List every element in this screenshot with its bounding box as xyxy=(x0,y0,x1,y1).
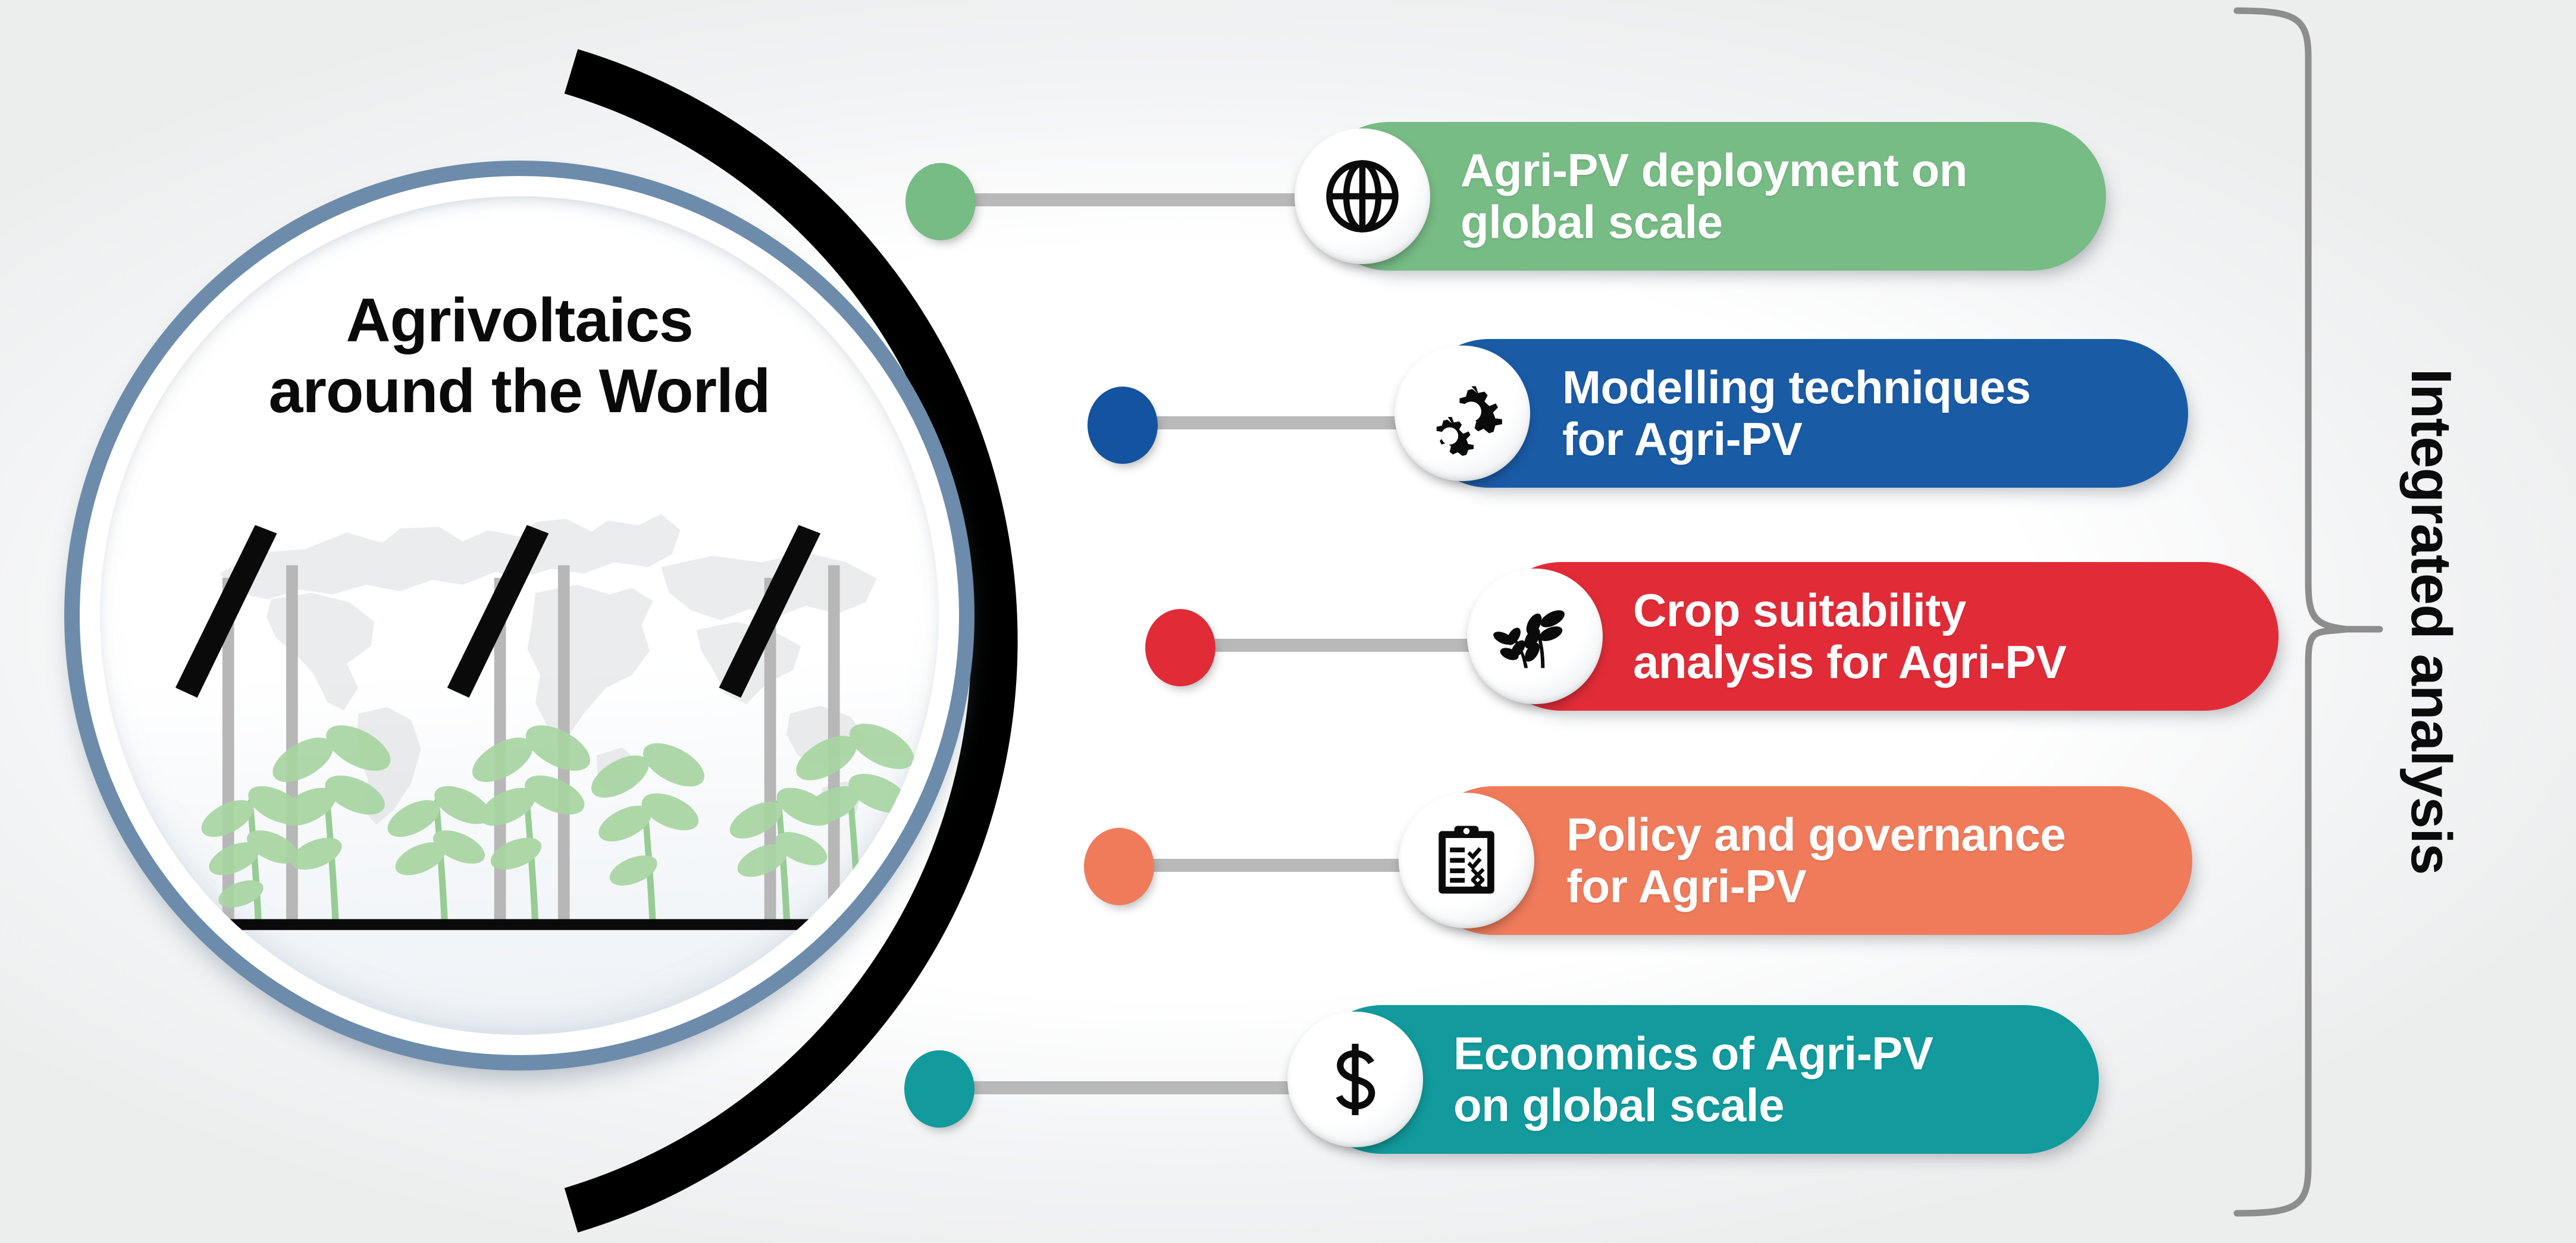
connector-line-crop xyxy=(1190,639,1505,652)
arc-node-policy[interactable] xyxy=(1084,828,1154,905)
branch-pill-economics[interactable]: Economics of Agri-PV on global scale xyxy=(1308,1005,2099,1154)
arc-node-modelling[interactable] xyxy=(1088,387,1158,464)
branch-label-policy: Policy and governance for Agri-PV xyxy=(1566,809,2066,913)
ground-line xyxy=(165,919,875,930)
branch-pill-policy[interactable]: Policy and governance for Agri-PV xyxy=(1419,786,2192,935)
branch-label-modelling: Modelling techniques for Agri-PV xyxy=(1562,362,2030,466)
clipboard-checklist-icon xyxy=(1423,817,1510,904)
branch-pill-modelling[interactable]: Modelling techniques for Agri-PV xyxy=(1415,339,2188,488)
globe-icon xyxy=(1318,152,1407,241)
branch-pill-crop[interactable]: Crop suitability analysis for Agri-PV xyxy=(1487,562,2279,711)
branch-pill-deployment[interactable]: Agri-PV deployment on global scale xyxy=(1315,122,2106,271)
plant-sprig-icon xyxy=(1491,592,1579,680)
infographic-canvas: Agrivoltaics around the World A xyxy=(0,0,2576,1243)
branch-badge-crop xyxy=(1467,569,1603,704)
arc-node-crop[interactable] xyxy=(1145,609,1215,686)
branch-badge-modelling xyxy=(1394,346,1530,481)
arc-node-economics[interactable] xyxy=(904,1050,974,1128)
branch-badge-deployment xyxy=(1295,128,1430,264)
arc-node-deployment[interactable] xyxy=(905,163,976,240)
branch-label-deployment: Agri-PV deployment on global scale xyxy=(1461,145,1967,249)
center-circle: Agrivoltaics around the World xyxy=(64,161,974,1071)
gears-icon xyxy=(1417,368,1508,459)
circle-ring: Agrivoltaics around the World xyxy=(64,161,974,1071)
branch-badge-policy xyxy=(1399,793,1534,928)
circle-inner: Agrivoltaics around the World xyxy=(100,196,939,1035)
integrated-analysis-label: Integrated analysis xyxy=(2398,369,2464,875)
connector-line-deployment xyxy=(952,193,1333,206)
branch-label-economics: Economics of Agri-PV on global scale xyxy=(1453,1028,1933,1132)
dollar-sign-icon xyxy=(1311,1035,1400,1124)
page-title: Agrivoltaics around the World xyxy=(100,285,939,426)
title-line-1: Agrivoltaics xyxy=(100,285,939,356)
connector-line-economics xyxy=(967,1081,1321,1094)
branch-label-crop: Crop suitability analysis for Agri-PV xyxy=(1633,585,2066,689)
branch-badge-economics xyxy=(1287,1012,1423,1147)
title-line-2: around the World xyxy=(100,356,939,427)
